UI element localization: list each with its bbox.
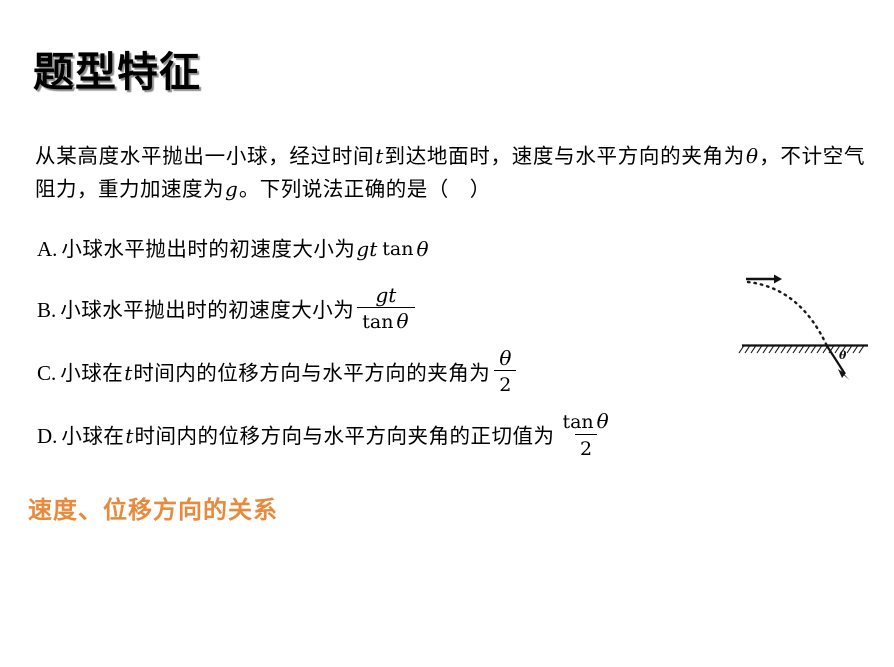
variable-t: t <box>374 144 384 168</box>
option-a-formula-op: tan <box>382 235 413 263</box>
option-b-denominator-op: tan <box>362 311 393 333</box>
option-b-denominator-angle: θ <box>395 309 409 333</box>
question-line2-part1: 为 <box>724 144 745 168</box>
option-c-text-part2: 时间内的位移方向与水平方向的夹角为 <box>133 359 490 387</box>
option-b-text: 小球水平抛出时的初速度大小为 <box>60 296 354 324</box>
option-c-letter: C. <box>37 359 56 387</box>
option-c[interactable]: C. 小球在 t 时间内的位移方向与水平方向的夹角为 θ 2 <box>37 349 520 396</box>
option-a-formula-var: gt <box>355 235 378 263</box>
option-c-text-part1: 小球在 <box>60 359 123 387</box>
option-b-numerator: gt <box>374 283 397 307</box>
question-line1-part2: 到达地面时，速度与水平方向的夹角 <box>384 144 723 168</box>
option-d-denominator: 2 <box>580 438 592 460</box>
question-line1-part1: 从某高度水平抛出一小球，经过时间 <box>35 144 374 168</box>
option-c-denominator: 2 <box>499 374 511 396</box>
option-b-letter: B. <box>37 296 56 324</box>
option-c-fraction: θ 2 <box>493 348 517 395</box>
option-b-fraction: gt tanθ <box>357 285 414 332</box>
initial-horizontal-velocity-arrow <box>746 275 782 284</box>
variable-theta: θ <box>745 144 759 168</box>
diagram-angle-label: θ <box>839 349 847 362</box>
option-d[interactable]: D. 小球在 t 时间内的位移方向与水平方向夹角的正切值为 tanθ 2 <box>37 412 618 460</box>
option-a-letter: A. <box>37 235 57 263</box>
hatched-ground-line <box>739 346 868 354</box>
question-line2-part3: 。下列说法正确的是（ ） <box>239 177 491 201</box>
option-c-numerator: θ <box>498 346 512 370</box>
question-statement: 从某高度水平抛出一小球，经过时间t到达地面时，速度与水平方向的夹角为θ，不计空气… <box>35 140 865 206</box>
option-b[interactable]: B. 小球水平抛出时的初速度大小为 gt tanθ <box>37 286 418 333</box>
projectile-motion-diagram: θ <box>728 258 878 383</box>
option-c-variable-t: t <box>123 359 133 387</box>
option-a-formula-angle: θ <box>415 235 429 263</box>
page-title: 题型特征 <box>33 48 201 96</box>
option-d-text-part1: 小球在 <box>61 422 124 450</box>
option-d-numerator-op: tan <box>562 411 593 433</box>
option-d-fraction: tanθ 2 <box>557 411 614 459</box>
dashed-parabolic-path <box>748 282 827 346</box>
option-a-text: 小球水平抛出时的初速度大小为 <box>61 235 355 263</box>
option-d-text-part2: 时间内的位移方向与水平方向夹角的正切值为 <box>134 422 554 450</box>
variable-g: g <box>224 177 239 201</box>
option-d-variable-t: t <box>124 422 134 450</box>
option-a[interactable]: A. 小球水平抛出时的初速度大小为 gt tan θ <box>37 235 430 263</box>
option-d-numerator-angle: θ <box>596 409 610 433</box>
option-d-letter: D. <box>37 422 57 450</box>
key-point-label: 速度、位移方向的关系 <box>28 490 278 525</box>
